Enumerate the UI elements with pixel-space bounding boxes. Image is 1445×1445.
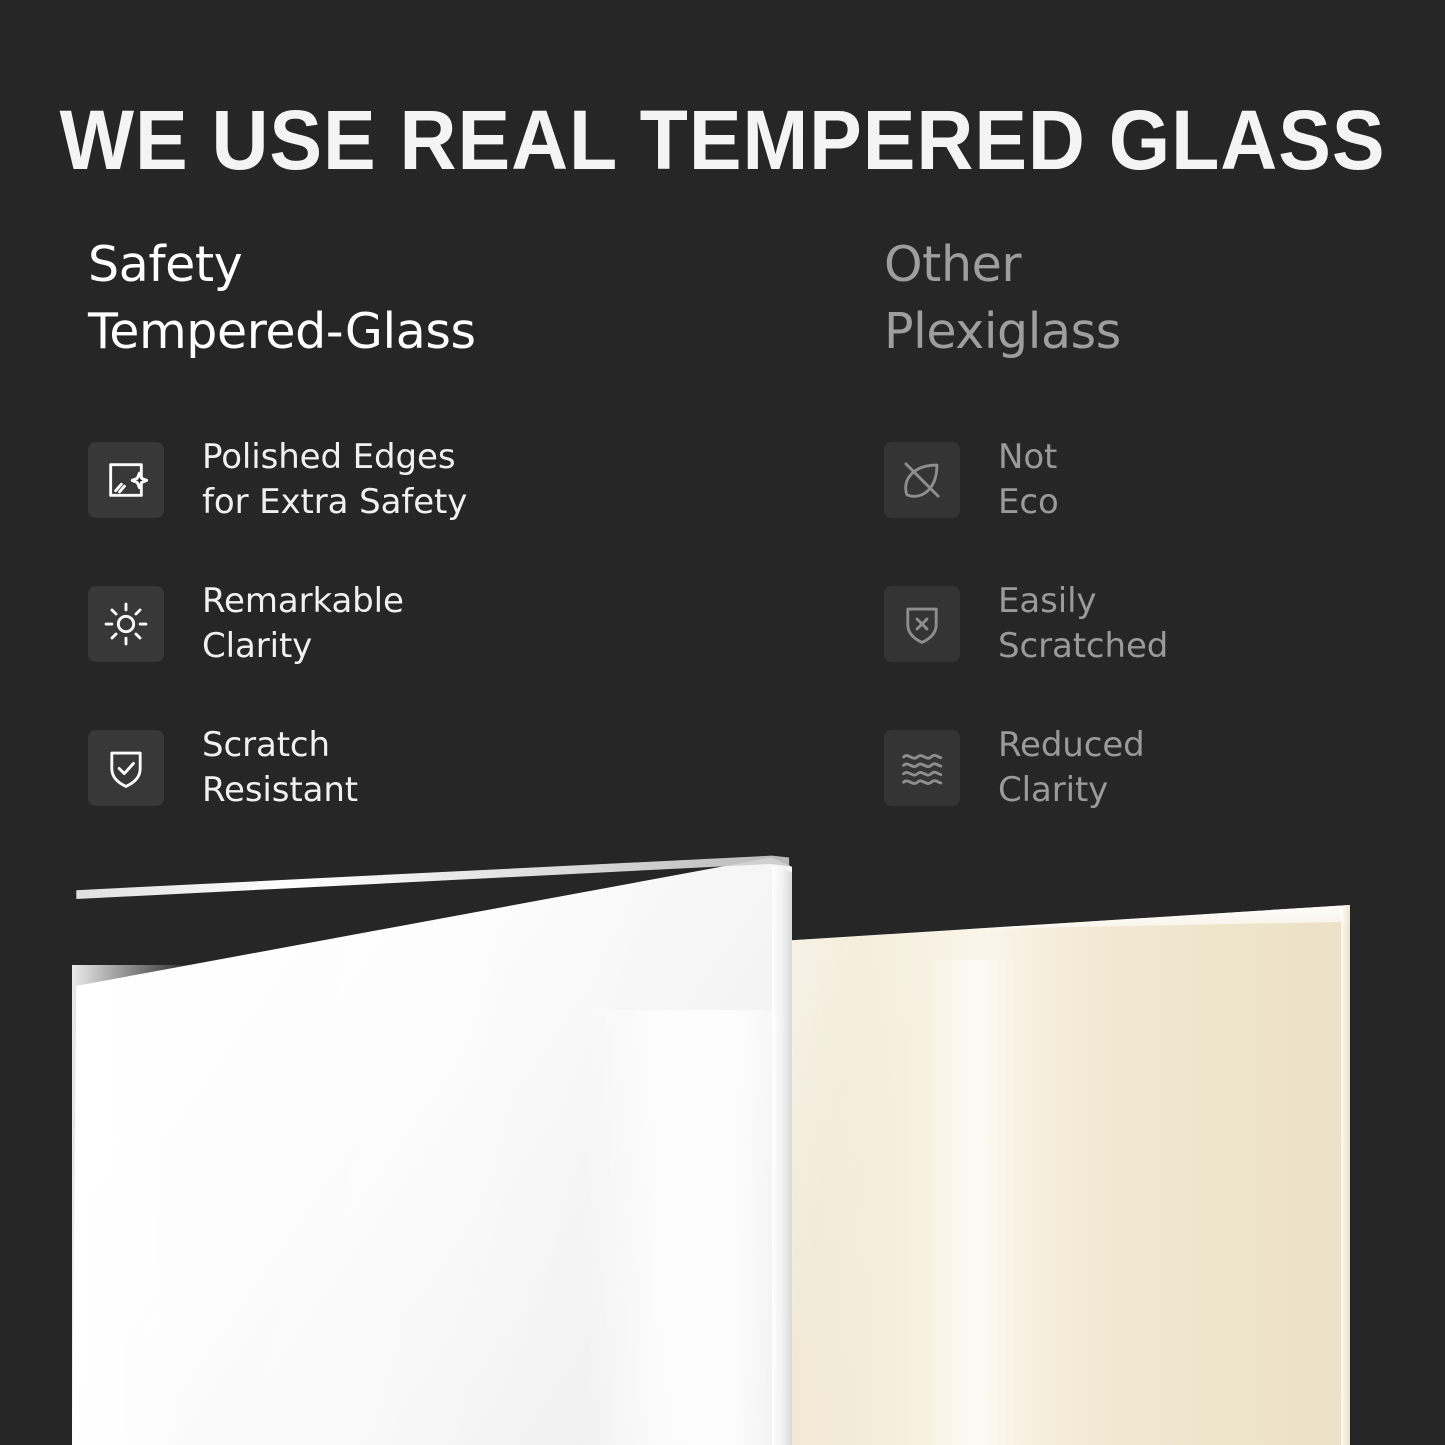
- wavy-distortion-icon: [884, 730, 960, 806]
- feature-label: Scratch Resistant: [202, 723, 358, 813]
- feature-row: Remarkable Clarity: [88, 586, 788, 662]
- feature-label: Not Eco: [998, 435, 1059, 525]
- feature-list-bad: Not Eco Easily Scratched: [884, 442, 1404, 806]
- glass-left-shine: [72, 965, 192, 1445]
- shield-x-icon: [884, 586, 960, 662]
- feature-row: Scratch Resistant: [88, 730, 788, 806]
- plexiglass-panel: [780, 905, 1350, 1445]
- product-photo: [0, 845, 1445, 1445]
- column-title-bad: Other Plexiglass: [884, 232, 1404, 365]
- feature-row: Easily Scratched: [884, 586, 1404, 662]
- column-title-good: Safety Tempered-Glass: [88, 232, 788, 365]
- feature-list-good: Polished Edges for Extra Safety: [88, 442, 788, 806]
- feature-row: Reduced Clarity: [884, 730, 1404, 806]
- polished-glass-pane-icon: [88, 442, 164, 518]
- leaf-crossed-out-icon: [884, 442, 960, 518]
- feature-label: Polished Edges for Extra Safety: [202, 435, 467, 525]
- feature-label: Reduced Clarity: [998, 723, 1145, 813]
- page-title: WE USE REAL TEMPERED GLASS: [43, 98, 1401, 182]
- feature-label: Easily Scratched: [998, 579, 1168, 669]
- plexiglass-edge-highlight: [1341, 905, 1350, 1445]
- glass-inner-reflection: [585, 1010, 795, 1445]
- glass-polished-right-edge: [772, 857, 792, 1445]
- comparison-columns: Safety Tempered-Glass Polished Edges for…: [0, 232, 1445, 852]
- comparison-infographic: WE USE REAL TEMPERED GLASS Safety Temper…: [0, 0, 1445, 1445]
- shield-check-icon: [88, 730, 164, 806]
- feature-row: Polished Edges for Extra Safety: [88, 442, 788, 518]
- column-other-plexiglass: Other Plexiglass Not Eco: [884, 232, 1404, 365]
- sun-brightness-icon: [88, 586, 164, 662]
- feature-row: Not Eco: [884, 442, 1404, 518]
- column-safety-tempered-glass: Safety Tempered-Glass Polished Edges for…: [88, 232, 788, 365]
- feature-label: Remarkable Clarity: [202, 579, 404, 669]
